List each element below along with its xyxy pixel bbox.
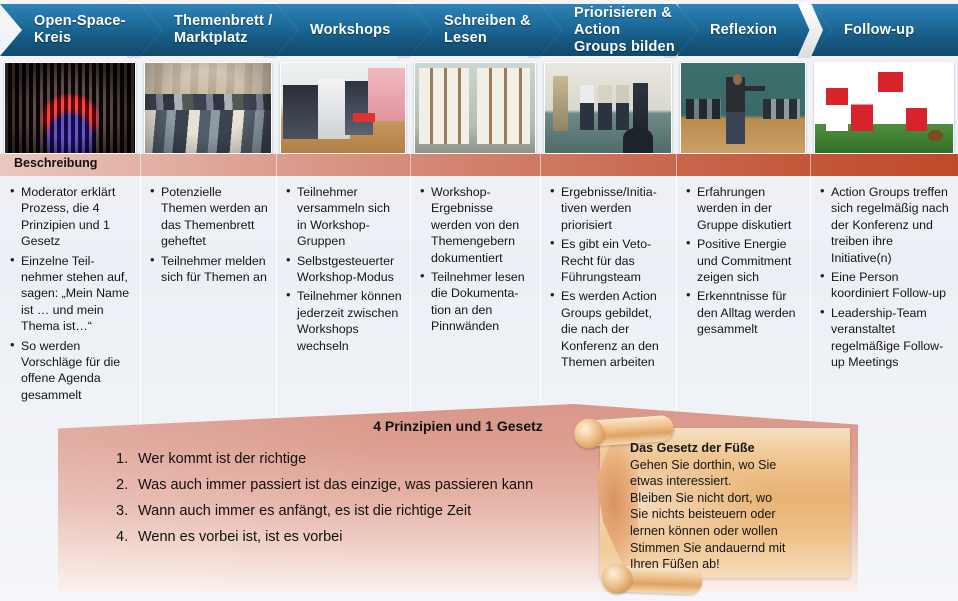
scroll-text: Das Gesetz der Füße Gehen Sie dorthin, w… — [630, 440, 840, 573]
process-step-header: Open-Space- KreisThemenbrett / Marktplat… — [0, 0, 958, 60]
description-item: Eine Person koordiniert Follow-up — [820, 269, 950, 302]
process-step-7[interactable]: Follow-up — [810, 4, 958, 56]
scroll-line: Sie nichts beisteuern oder — [630, 506, 840, 523]
description-item: Selbstgesteuerter Workshop-Modus — [286, 253, 402, 286]
description-band-label: Beschreibung — [14, 156, 97, 170]
description-item: Teilnehmer melden sich für Themen an — [150, 253, 268, 286]
description-band-separator — [410, 154, 411, 176]
description-item: Teilnehmer lesen die Dokumenta­tion an d… — [420, 269, 532, 335]
scroll-line: Gehen Sie dorthin, wo Sie — [630, 457, 840, 474]
description-list: Teilnehmer versammeln sich in Workshop-G… — [276, 176, 410, 354]
description-item: Es gibt ein Veto-Recht für das Führungst… — [550, 236, 668, 285]
law-of-feet-scroll: Das Gesetz der Füße Gehen Sie dorthin, w… — [578, 418, 863, 593]
description-list: Moderator erklärt Prozess, die 4 Prinzip… — [0, 176, 140, 403]
description-list: Potenzielle Themen werden an das Themenb… — [140, 176, 276, 285]
photo-follow-up — [814, 62, 954, 154]
photo-open-space-kreis — [4, 62, 136, 154]
description-item: Es werden Action Groups gebildet, die na… — [550, 288, 668, 370]
process-step-4[interactable]: Schreiben & Lesen — [410, 4, 562, 56]
description-list: Workshop-Ergebnisse werden von den Theme… — [410, 176, 540, 335]
process-step-label: Open-Space- Kreis — [0, 13, 136, 47]
principle-item: Wer kommt ist der richtige — [138, 446, 533, 472]
scroll-line: Ihren Füßen ab! — [630, 556, 840, 573]
scroll-heading: Das Gesetz der Füße — [630, 440, 840, 457]
photo-reflexion — [680, 62, 806, 154]
principle-item: Wann auch immer es anfängt, es ist die r… — [138, 498, 533, 524]
description-list: Ergebnisse/Initia­tiven werden priorisie… — [540, 176, 676, 370]
description-list: Erfahrungen werden in der Gruppe diskuti… — [676, 176, 810, 338]
photo-workshops — [280, 62, 406, 154]
photo-schreiben-lesen — [414, 62, 536, 154]
description-item: Workshop-Ergebnisse werden von den Theme… — [420, 184, 532, 266]
scroll-line: etwas interessiert. — [630, 473, 840, 490]
description-item: Leadership-Team veranstaltet regelmäßige… — [820, 305, 950, 371]
process-step-6[interactable]: Reflexion — [676, 4, 832, 56]
scroll-line: Bleiben Sie nicht dort, wo — [630, 490, 840, 507]
description-item: Action Groups treffen sich regelmäßig na… — [820, 184, 950, 266]
description-band-separator — [810, 154, 811, 176]
principle-item: Wenn es vorbei ist, ist es vorbei — [138, 524, 533, 550]
scroll-line: lernen können oder wollen — [630, 523, 840, 540]
scroll-cap-icon — [573, 418, 605, 450]
description-band-separator — [540, 154, 541, 176]
description-item: Ergebnisse/Initia­tiven werden priorisie… — [550, 184, 668, 233]
photo-strip — [0, 62, 958, 154]
description-item: Erkenntnisse für den Alltag werden gesam… — [686, 288, 802, 337]
description-band: Beschreibung — [0, 154, 958, 176]
description-item: Moderator erklärt Prozess, die 4 Prinzip… — [10, 184, 132, 250]
description-item: Potenzielle Themen werden an das Themenb… — [150, 184, 268, 250]
slide-root: Open-Space- KreisThemenbrett / Marktplat… — [0, 0, 958, 601]
photo-themenbrett — [144, 62, 272, 154]
description-item: So werden Vorschläge für die offene Agen… — [10, 338, 132, 404]
principle-item: Was auch immer passiert ist das einzige,… — [138, 472, 533, 498]
process-step-5[interactable]: Priorisieren & Action Groups bilden — [540, 4, 698, 56]
description-item: Teilnehmer können jederzeit zwischen Wor… — [286, 288, 402, 354]
photo-priorisieren — [544, 62, 672, 154]
description-item: Einzelne Teil­nehmer stehen auf, sagen: … — [10, 253, 132, 335]
principles-list: Wer kommt ist der richtigeWas auch immer… — [116, 446, 533, 550]
description-item: Teilnehmer versammeln sich in Workshop-G… — [286, 184, 402, 250]
description-band-separator — [140, 154, 141, 176]
description-item: Positive Energie und Commitment zeigen s… — [686, 236, 802, 285]
scroll-line: Stimmen Sie andauernd mit — [630, 540, 840, 557]
description-list: Action Groups treffen sich regelmäßig na… — [810, 176, 958, 370]
process-step-3[interactable]: Workshops — [276, 4, 432, 56]
scroll-cap-icon — [602, 563, 633, 594]
description-band-separator — [276, 154, 277, 176]
description-band-separator — [676, 154, 677, 176]
description-item: Erfahrungen werden in der Gruppe diskuti… — [686, 184, 802, 233]
process-step-2[interactable]: Themenbrett / Marktplatz — [140, 4, 298, 56]
process-step-1[interactable]: Open-Space- Kreis — [0, 4, 162, 56]
